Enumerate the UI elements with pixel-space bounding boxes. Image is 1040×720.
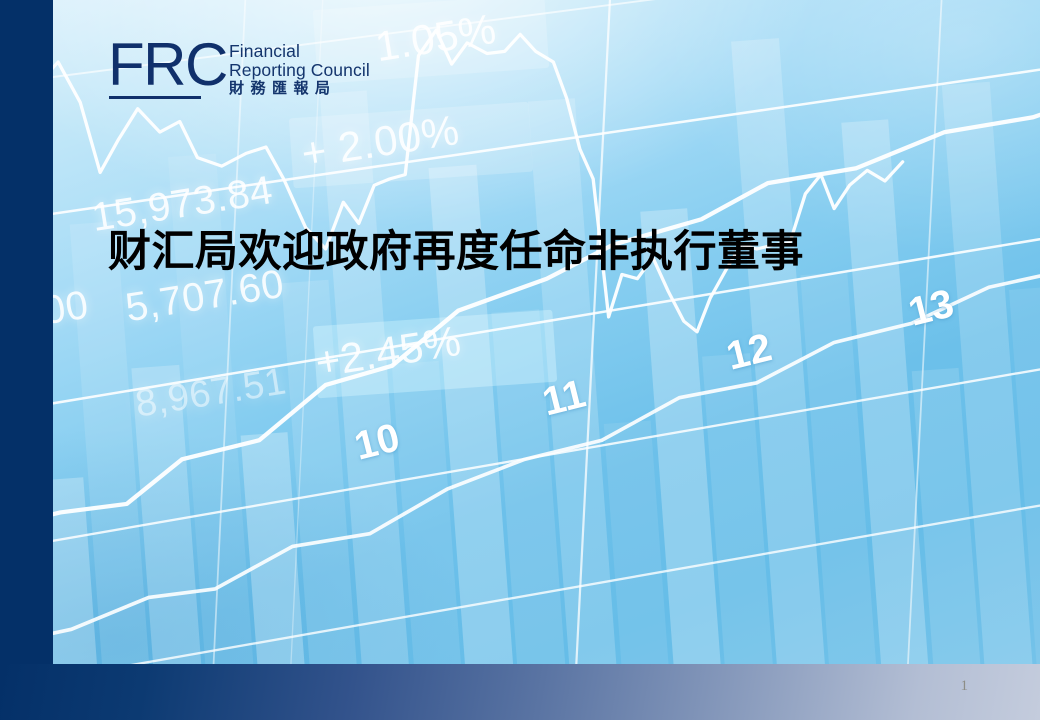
bottom-accent-band: [0, 664, 1040, 720]
frc-logo-name-chinese: 財務匯報局: [229, 80, 370, 99]
background-quote: 00: [53, 283, 92, 335]
slide-title: 财汇局欢迎政府再度任命非执行董事: [108, 228, 938, 276]
frc-logo-underline: [109, 96, 201, 99]
frc-logo-name-line2: Reporting Council: [229, 61, 370, 80]
left-accent-band: [0, 0, 53, 664]
frc-logo: FRC Financial Reporting Council 財務匯報局: [108, 42, 370, 101]
frc-logo-letters: FRC: [108, 35, 227, 95]
presentation-slide: 1.05% 15,973.84 + 2.00% 00 5,707.60 8,96…: [0, 0, 1040, 720]
frc-logo-name-line1: Financial: [229, 42, 370, 61]
frc-logo-wordmark: Financial Reporting Council 財務匯報局: [229, 42, 370, 101]
frc-logo-mark: FRC: [108, 43, 220, 101]
page-number: 1: [961, 678, 969, 695]
